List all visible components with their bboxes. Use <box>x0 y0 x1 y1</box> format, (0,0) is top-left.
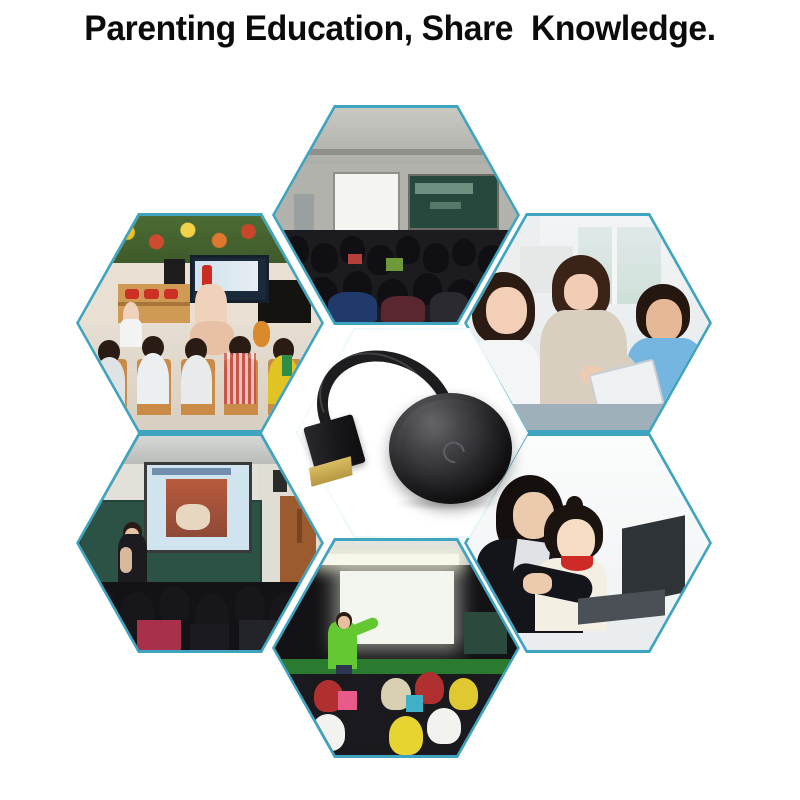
hex-border-bottom <box>272 538 520 758</box>
page-title: Parenting Education, Share Knowledge. <box>16 9 784 49</box>
hexagon-collage: Classroom lecture hall with projector sc… <box>0 70 800 800</box>
hex-photo-bottom <box>275 541 517 755</box>
page-root: Parenting Education, Share Knowledge. <box>0 0 800 800</box>
scene-auditorium-presentation <box>275 541 517 755</box>
hex-cell-center-product[interactable]: Wireless HDMI display dongle <box>296 328 528 538</box>
hex-border-upper-left <box>76 213 324 433</box>
projector-screen-icon <box>333 172 400 232</box>
dongle-disc-icon <box>389 393 512 504</box>
hex-cell-upper-left[interactable]: Kindergarten children watching a screen <box>76 213 324 433</box>
hex-photo-upper-left <box>79 216 321 430</box>
scene-kindergarten <box>79 216 321 430</box>
hex-cell-bottom[interactable]: Presenter addressing an auditorium with … <box>272 538 520 758</box>
product-image-dongle <box>296 328 528 538</box>
